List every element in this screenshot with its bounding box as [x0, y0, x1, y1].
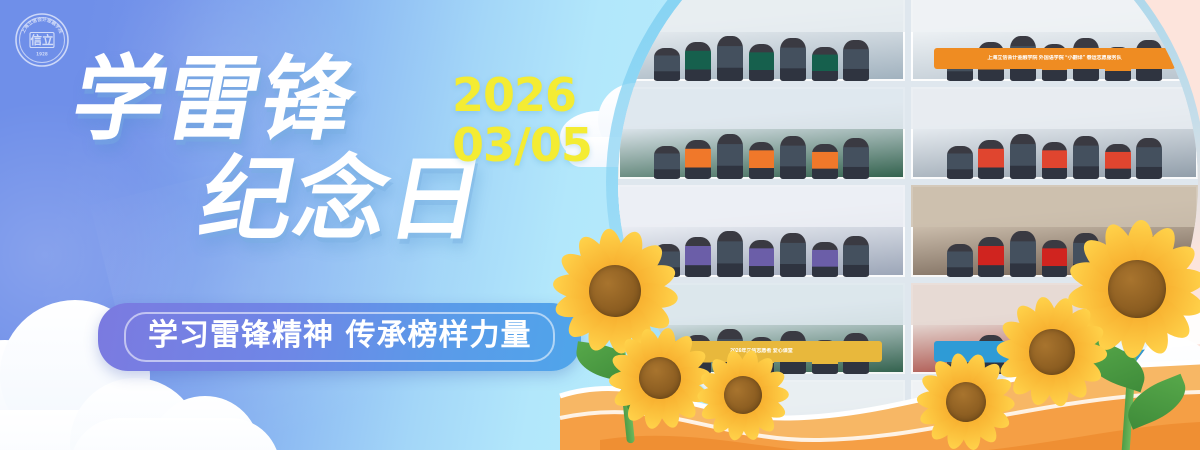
event-date: 2026 03/05: [452, 70, 582, 170]
photo-person: [1042, 142, 1068, 179]
photo-person: [654, 244, 680, 277]
photo-people-group: [911, 220, 1198, 277]
photo-people-group: [618, 220, 905, 277]
photo-banner-caption: 上海立信会计金融学院 外国语学院 “小翻译” 春运志愿服务队: [934, 48, 1175, 68]
photo-person: [685, 140, 711, 179]
photo-person: [749, 44, 775, 81]
subtitle-pill[interactable]: 学习雷锋精神 传承榜样力量: [98, 303, 581, 371]
photo-green-vest-team: [618, 0, 905, 81]
photo-person: [1010, 134, 1036, 179]
photo-banner-caption: 青春志愿行 温暖回家路·立信大学生暖冬志愿服务: [934, 439, 1175, 450]
photo-person: [843, 236, 869, 277]
photo-banner-caption: 敬老志愿服务队: [934, 341, 1175, 361]
photo-person: [685, 433, 711, 450]
photo-person: [654, 48, 680, 81]
photo-people-group: [618, 122, 905, 179]
photo-purple-uniform-group: [618, 185, 905, 277]
photo-ticket-machine-help: [618, 380, 905, 450]
photo-children-class: 2026年立信志愿者 爱心课堂: [618, 283, 905, 375]
photo-person: [978, 140, 1004, 179]
photo-person: [780, 429, 806, 450]
photo-banner-caption-text: 敬老志愿服务队: [1037, 348, 1072, 354]
photo-person: [654, 146, 680, 179]
photo-banner-caption-text: 上海立信会计金融学院 外国语学院 “小翻译” 春运志愿服务队: [987, 55, 1121, 61]
photo-person: [749, 240, 775, 277]
photo-person: [654, 439, 680, 450]
photo-person: [1105, 144, 1131, 179]
photo-person: [1105, 242, 1131, 277]
photo-people-group: [911, 122, 1198, 179]
photo-person: [1136, 236, 1162, 277]
photo-person: [812, 47, 838, 82]
photo-person: [780, 233, 806, 276]
photo-person: [843, 138, 869, 179]
photo-person: [843, 40, 869, 81]
photo-person: [1073, 233, 1099, 276]
photo-person: [717, 231, 743, 276]
campaign-banner: 上海立信会计金融学院 信立 1928 APEC Finance and Cent…: [0, 0, 1200, 450]
photo-person: [749, 142, 775, 179]
photo-person: [1042, 240, 1068, 277]
photo-red-banner-station: 青春志愿行 温暖回家路·立信大学生暖冬志愿服务: [911, 380, 1198, 450]
university-seal-logo[interactable]: 上海立信会计金融学院 信立 1928: [13, 12, 71, 68]
photo-blue-banner-museum: 敬老志愿服务队: [911, 283, 1198, 375]
title-line-2: 纪念日: [193, 152, 494, 248]
photo-person: [780, 136, 806, 179]
subtitle-text: 学习雷锋精神 传承榜样力量: [148, 319, 531, 353]
photo-people-group: [618, 25, 905, 82]
photo-person: [717, 36, 743, 81]
date-monthday: 03/05: [452, 120, 582, 170]
photo-banner-caption-text: 2026年立信志愿者 爱心课堂: [730, 348, 793, 354]
svg-text:1928: 1928: [36, 52, 48, 57]
photo-person: [1073, 136, 1099, 179]
photo-person: [812, 242, 838, 277]
photo-person: [947, 244, 973, 277]
photo-people-group: [618, 415, 905, 450]
photo-classroom-lecture: [618, 87, 905, 179]
photo-person: [978, 237, 1004, 276]
svg-text:信立: 信立: [31, 33, 54, 47]
photo-person: [717, 427, 743, 450]
photo-person: [780, 38, 806, 81]
photo-red-flag-oath: [911, 185, 1198, 277]
photo-person: [947, 146, 973, 179]
photo-station-service-desk: [911, 87, 1198, 179]
photo-person: [685, 42, 711, 81]
photo-person: [749, 435, 775, 450]
photo-orange-banner-team: 上海立信会计金融学院 外国语学院 “小翻译” 春运志愿服务队: [911, 0, 1198, 81]
photo-collage: APEC Finance and Central Bank Deputies M…: [618, 0, 1198, 450]
photo-person: [717, 134, 743, 179]
photo-person: [843, 431, 869, 450]
photo-person: [1010, 231, 1036, 276]
photo-person: [1136, 138, 1162, 179]
title-line-1: 学雷锋: [65, 52, 366, 148]
subtitle-pill-inner: 学习雷锋精神 传承榜样力量: [124, 312, 555, 362]
photo-person: [812, 144, 838, 179]
photo-person: [685, 237, 711, 276]
photo-banner-caption-text: 青春志愿行 温暖回家路·立信大学生暖冬志愿服务: [1000, 446, 1108, 450]
photo-banner-caption: 2026年立信志愿者 爱心课堂: [641, 341, 882, 361]
photo-person: [812, 437, 838, 450]
sunflower-petal: [582, 301, 621, 354]
date-year: 2026: [452, 68, 576, 122]
